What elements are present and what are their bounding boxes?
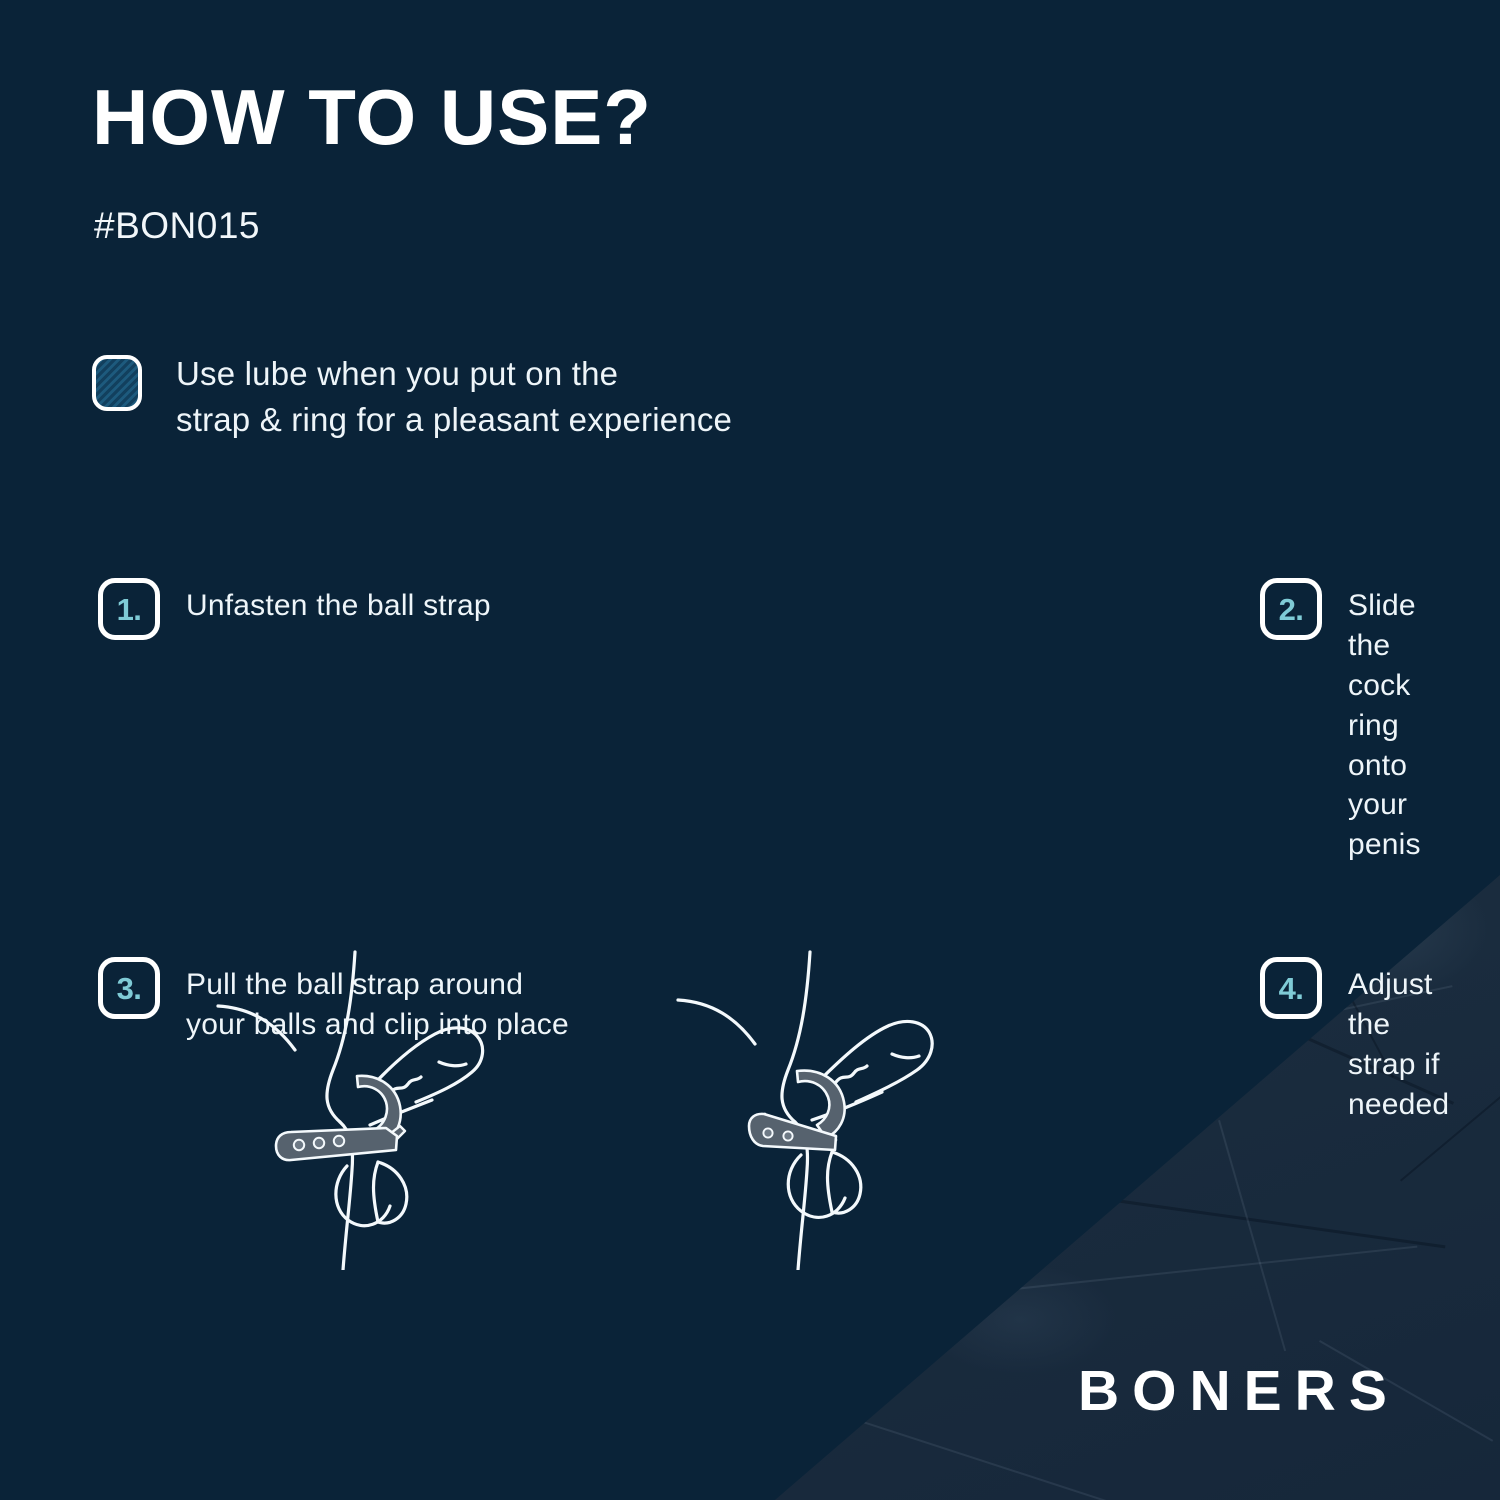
lube-tip-line-1: Use lube when you put on the — [176, 351, 732, 397]
step-text-4: Adjust the strap if needed — [1348, 957, 1449, 1125]
poster-canvas: HOW TO USE? #BON015 Use lube when you pu… — [0, 0, 1500, 1500]
brand-logo: BONERS — [1078, 1358, 1400, 1424]
lube-tip-text: Use lube when you put on the strap & rin… — [176, 351, 732, 442]
step-item-1: 1. Unfasten the ball strap — [98, 578, 708, 865]
strap-fastened-illustration — [660, 930, 1000, 1275]
lube-tip-line-2: strap & ring for a pleasant experience — [176, 397, 732, 443]
product-sku: #BON015 — [94, 205, 260, 247]
step-4-line-1: Adjust the strap if needed — [1348, 965, 1449, 1125]
step-2-line-2: your penis — [1348, 785, 1449, 865]
step-text-1: Unfasten the ball strap — [186, 578, 491, 626]
step-number-badge-2: 2. — [1260, 578, 1322, 640]
strap-unfastened-illustration — [200, 930, 540, 1275]
lube-tip: Use lube when you put on the strap & rin… — [92, 355, 732, 442]
step-text-2: Slide the cock ring onto your penis — [1348, 578, 1449, 865]
step-number-badge-1: 1. — [98, 578, 160, 640]
step-1-line-1: Unfasten the ball strap — [186, 586, 491, 626]
step-number-badge-4: 4. — [1260, 957, 1322, 1019]
page-title: HOW TO USE? — [92, 78, 652, 156]
step-item-2: 2. Slide the cock ring onto your penis — [708, 578, 1449, 865]
step-2-line-1: Slide the cock ring onto — [1348, 586, 1449, 785]
step-number-badge-3: 3. — [98, 957, 160, 1019]
lube-hatched-square-icon — [92, 355, 142, 411]
